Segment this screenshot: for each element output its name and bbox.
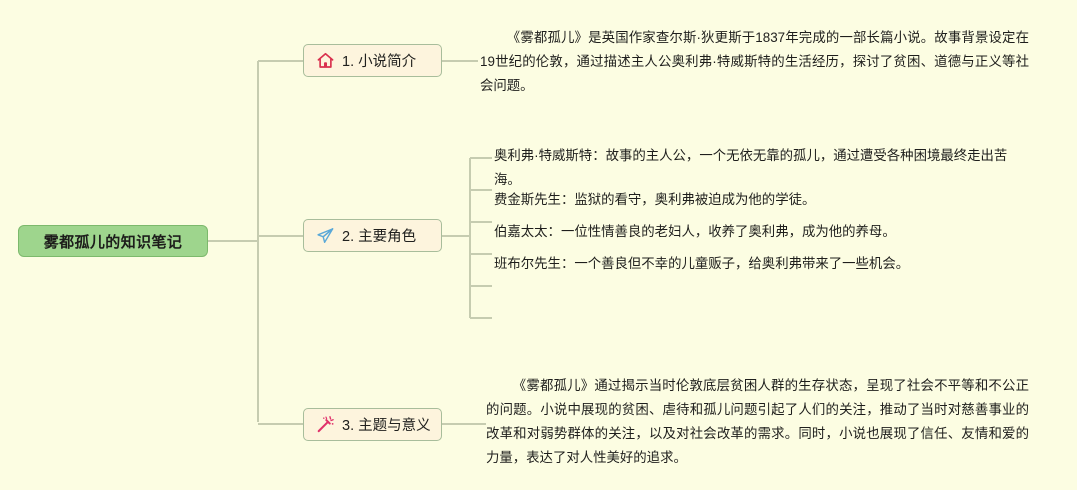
magic-wand-icon: [316, 415, 335, 434]
branch-node-label: 1. 小说简介: [342, 50, 416, 71]
leaf-text-novel-intro: 《雾都孤儿》是英国作家查尔斯·狄更斯于1837年完成的一部长篇小说。故事背景设定…: [480, 26, 1029, 98]
root-node-label: 雾都孤儿的知识笔记: [44, 231, 183, 252]
branch-node-main-characters[interactable]: 2. 主要角色: [303, 219, 442, 252]
paper-plane-icon: [316, 226, 335, 245]
leaf-text-theme-meaning: 《雾都孤儿》通过揭示当时伦敦底层贫困人群的生存状态，呈现了社会不平等和不公正的问…: [486, 374, 1029, 470]
branch-node-label: 2. 主要角色: [342, 225, 416, 246]
list-item: 费金斯先生：监狱的看守，奥利弗被迫成为他的学徒。: [494, 188, 1034, 212]
branch-node-label: 3. 主题与意义: [342, 414, 431, 435]
root-node[interactable]: 雾都孤儿的知识笔记: [18, 225, 208, 257]
list-item: 奥利弗·特威斯特：故事的主人公，一个无依无靠的孤儿，通过遭受各种困境最终走出苦海…: [494, 144, 1034, 192]
list-item: 班布尔先生：一个善良但不幸的儿童贩子，给奥利弗带来了一些机会。: [494, 252, 1034, 276]
branch-node-theme-meaning[interactable]: 3. 主题与意义: [303, 408, 442, 441]
home-icon: [316, 51, 335, 70]
list-item: 伯嘉太太：一位性情善良的老妇人，收养了奥利弗，成为他的养母。: [494, 220, 1034, 244]
mindmap-canvas: 雾都孤儿的知识笔记 1. 小说简介 2. 主要角色 3. 主题与意义: [0, 0, 1077, 490]
branch-node-novel-intro[interactable]: 1. 小说简介: [303, 44, 442, 77]
